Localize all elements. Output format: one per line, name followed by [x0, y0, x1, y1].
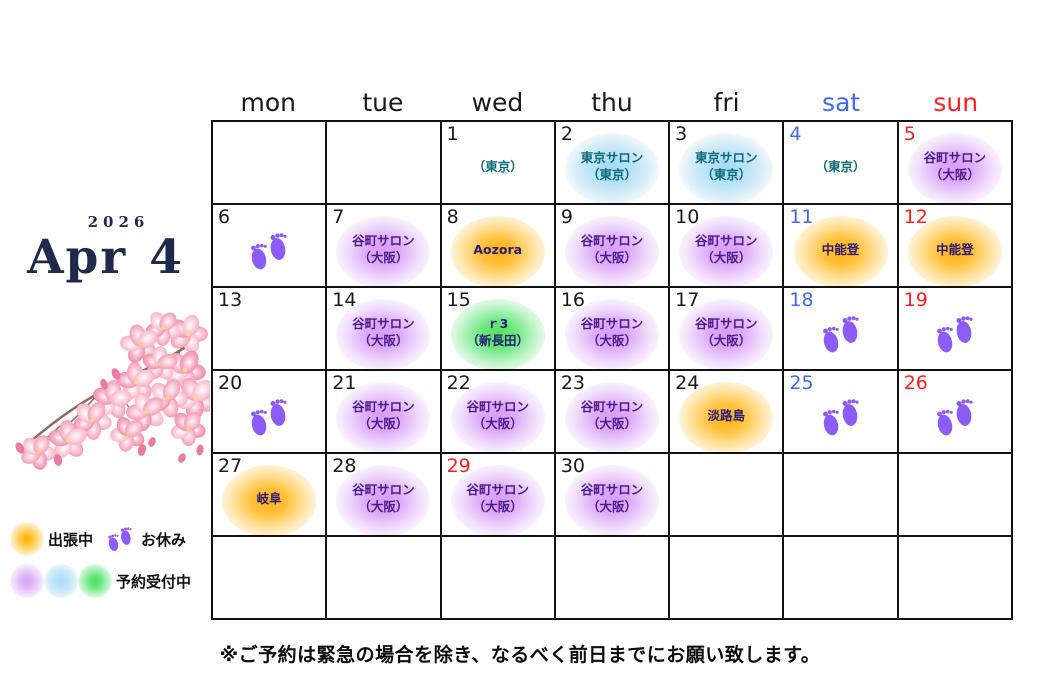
event-line-2: （大阪）	[670, 332, 782, 349]
event-line-1: 淡路島	[708, 408, 746, 423]
calendar-grid: 1（東京）2東京サロン（東京）3東京サロン（東京）4（東京）5谷町サロン（大阪）…	[211, 120, 1013, 620]
day-cell-empty[interactable]	[327, 122, 441, 205]
day-number: 28	[332, 455, 356, 477]
event-label: 谷町サロン（大阪）	[556, 481, 668, 515]
legend-label-accepting: 予約受付中	[116, 571, 191, 592]
day-cell-6[interactable]: 6	[213, 205, 327, 288]
weekday-header-tue: tue	[326, 88, 441, 120]
event-line-2: （大阪）	[670, 249, 782, 266]
event-line-2: （大阪）	[556, 249, 668, 266]
weekday-header-sat: sat	[784, 88, 899, 120]
event-line-2: （大阪）	[556, 498, 668, 515]
event-label: Aozora	[442, 241, 554, 258]
cherry-blossom-icon	[0, 300, 210, 480]
day-cell-empty[interactable]	[327, 537, 441, 620]
footprints-icon	[243, 225, 295, 277]
day-number: 12	[904, 206, 928, 228]
green-dot-icon	[78, 564, 112, 598]
event-label: 淡路島	[670, 407, 782, 424]
event-line-1: 谷町サロン	[466, 482, 529, 497]
event-line-2: （東京）	[556, 166, 668, 183]
event-label: 谷町サロン（大阪）	[670, 315, 782, 349]
calendar-table: montuewedthufrisatsun 1（東京）2東京サロン（東京）3東京…	[211, 88, 1013, 620]
event-line-1: 谷町サロン	[581, 233, 644, 248]
event-line-1: 谷町サロン	[352, 482, 415, 497]
event-label: 岐阜	[213, 490, 325, 507]
day-number: 1	[447, 123, 459, 145]
blue-dot-icon	[44, 564, 78, 598]
day-cell-empty[interactable]	[899, 454, 1013, 537]
day-number: 7	[332, 206, 344, 228]
day-cell-empty[interactable]	[213, 122, 327, 205]
day-cell-13[interactable]: 13	[213, 288, 327, 371]
day-number: 10	[675, 206, 699, 228]
calendar-title: 2026 Apr4	[8, 215, 203, 284]
event-label: 谷町サロン（大阪）	[556, 398, 668, 432]
day-cell-29[interactable]: 29谷町サロン（大阪）	[442, 454, 556, 537]
calendar-page: 2026 Apr4	[0, 0, 1040, 700]
footprints-icon	[103, 522, 137, 556]
event-label: 谷町サロン（大阪）	[899, 149, 1011, 183]
day-number: 6	[218, 206, 230, 228]
event-line-1: 谷町サロン	[581, 482, 644, 497]
day-cell-27[interactable]: 27岐阜	[213, 454, 327, 537]
event-line-1: （東京）	[816, 159, 866, 174]
event-line-2: （大阪）	[327, 249, 439, 266]
day-cell-empty[interactable]	[784, 537, 898, 620]
event-line-2: （大阪）	[442, 415, 554, 432]
weekday-header-row: montuewedthufrisatsun	[211, 88, 1013, 120]
event-line-2: （大阪）	[327, 332, 439, 349]
day-cell-empty[interactable]	[556, 537, 670, 620]
day-number: 14	[332, 289, 356, 311]
event-line-1: 岐阜	[257, 491, 282, 506]
day-cell-28[interactable]: 28谷町サロン（大阪）	[327, 454, 441, 537]
day-number: 29	[447, 455, 471, 477]
day-cell-19[interactable]: 19	[899, 288, 1013, 371]
day-number: 15	[447, 289, 471, 311]
day-cell-16[interactable]: 16谷町サロン（大阪）	[556, 288, 670, 371]
day-number: 23	[561, 372, 585, 394]
day-number: 3	[675, 123, 687, 145]
footprints-icon	[243, 391, 295, 443]
event-label: 谷町サロン（大阪）	[442, 398, 554, 432]
event-label: ｒ3（新長田）	[442, 315, 554, 349]
event-line-1: 谷町サロン	[581, 316, 644, 331]
event-label: 谷町サロン（大阪）	[556, 232, 668, 266]
day-number: 4	[789, 123, 801, 145]
event-label: 谷町サロン（大阪）	[556, 315, 668, 349]
day-number: 27	[218, 455, 242, 477]
day-cell-11[interactable]: 11中能登	[784, 205, 898, 288]
event-line-1: 谷町サロン	[695, 233, 758, 248]
event-label: 谷町サロン（大阪）	[327, 315, 439, 349]
event-line-1: ｒ3	[487, 316, 508, 331]
event-line-1: （東京）	[473, 159, 523, 174]
day-cell-26[interactable]: 26	[899, 371, 1013, 454]
event-line-1: 谷町サロン	[352, 233, 415, 248]
weekday-header-wed: wed	[440, 88, 555, 120]
event-label: 東京サロン（東京）	[556, 149, 668, 183]
legend-label-day-off: お休み	[141, 529, 186, 550]
day-cell-4[interactable]: 4（東京）	[784, 122, 898, 205]
day-number: 8	[447, 206, 459, 228]
footer-note: ※ご予約は緊急の場合を除き、なるべく前日までにお願い致します。	[0, 640, 1040, 667]
day-number: 17	[675, 289, 699, 311]
weekday-header-thu: thu	[555, 88, 670, 120]
day-number: 9	[561, 206, 573, 228]
footprints-icon	[815, 391, 867, 443]
purple-dot-icon	[10, 564, 44, 598]
event-line-2: （大阪）	[556, 415, 668, 432]
day-cell-14[interactable]: 14谷町サロン（大阪）	[327, 288, 441, 371]
day-cell-15[interactable]: 15ｒ3（新長田）	[442, 288, 556, 371]
event-line-2: （新長田）	[442, 332, 554, 349]
day-cell-empty[interactable]	[784, 454, 898, 537]
event-label: 谷町サロン（大阪）	[327, 398, 439, 432]
event-label: 谷町サロン（大阪）	[442, 481, 554, 515]
legend: 出張中	[10, 518, 205, 602]
footprints-icon	[929, 308, 981, 360]
day-number: 26	[904, 372, 928, 394]
event-line-2: （大阪）	[327, 415, 439, 432]
event-label: 中能登	[784, 241, 896, 258]
day-cell-21[interactable]: 21谷町サロン（大阪）	[327, 371, 441, 454]
event-line-1: 中能登	[936, 242, 974, 257]
event-line-2: （大阪）	[899, 166, 1011, 183]
event-label: 谷町サロン（大阪）	[327, 232, 439, 266]
event-line-1: 谷町サロン	[695, 316, 758, 331]
day-cell-18[interactable]: 18	[784, 288, 898, 371]
event-line-1: 東京サロン	[695, 150, 758, 165]
orange-dot-icon	[10, 522, 44, 556]
day-cell-22[interactable]: 22谷町サロン（大阪）	[442, 371, 556, 454]
event-line-2: （東京）	[670, 166, 782, 183]
footprints-icon	[929, 391, 981, 443]
event-line-2: （大阪）	[442, 498, 554, 515]
event-line-2: （大阪）	[327, 498, 439, 515]
weekday-header-fri: fri	[669, 88, 784, 120]
event-label: 中能登	[899, 241, 1011, 258]
day-cell-24[interactable]: 24淡路島	[670, 371, 784, 454]
footprints-icon	[815, 308, 867, 360]
day-cell-20[interactable]: 20	[213, 371, 327, 454]
day-number: 5	[904, 123, 916, 145]
legend-label-business-trip: 出張中	[48, 529, 93, 550]
event-label: （東京）	[442, 158, 554, 175]
day-cell-12[interactable]: 12中能登	[899, 205, 1013, 288]
legend-row-accepting: 予約受付中	[10, 560, 205, 602]
legend-row-business-trip: 出張中	[10, 518, 205, 560]
day-cell-9[interactable]: 9谷町サロン（大阪）	[556, 205, 670, 288]
event-label: 谷町サロン（大阪）	[670, 232, 782, 266]
left-panel: 2026 Apr4	[0, 0, 211, 700]
day-number: 13	[218, 289, 242, 311]
day-number: 25	[789, 372, 813, 394]
day-cell-5[interactable]: 5谷町サロン（大阪）	[899, 122, 1013, 205]
event-line-1: 中能登	[822, 242, 860, 257]
title-year: 2026	[34, 215, 203, 230]
event-label: 谷町サロン（大阪）	[327, 481, 439, 515]
title-month-abbr: Apr	[27, 230, 127, 285]
event-line-1: 谷町サロン	[352, 399, 415, 414]
event-line-1: Aozora	[473, 242, 522, 257]
event-line-1: 谷町サロン	[924, 150, 987, 165]
day-cell-empty[interactable]	[899, 537, 1013, 620]
title-month: Apr4	[8, 232, 203, 284]
event-line-1: 谷町サロン	[352, 316, 415, 331]
day-cell-2[interactable]: 2東京サロン（東京）	[556, 122, 670, 205]
day-cell-empty[interactable]	[670, 454, 784, 537]
day-number: 11	[789, 206, 813, 228]
event-line-1: 谷町サロン	[581, 399, 644, 414]
day-number: 19	[904, 289, 928, 311]
day-number: 30	[561, 455, 585, 477]
day-cell-1[interactable]: 1（東京）	[442, 122, 556, 205]
day-cell-25[interactable]: 25	[784, 371, 898, 454]
weekday-header-mon: mon	[211, 88, 326, 120]
weekday-header-sun: sun	[898, 88, 1013, 120]
day-number: 20	[218, 372, 242, 394]
day-cell-23[interactable]: 23谷町サロン（大阪）	[556, 371, 670, 454]
day-number: 2	[561, 123, 573, 145]
day-cell-10[interactable]: 10谷町サロン（大阪）	[670, 205, 784, 288]
day-number: 16	[561, 289, 585, 311]
day-cell-7[interactable]: 7谷町サロン（大阪）	[327, 205, 441, 288]
event-label: 東京サロン（東京）	[670, 149, 782, 183]
event-line-2: （大阪）	[556, 332, 668, 349]
day-number: 24	[675, 372, 699, 394]
event-line-1: 谷町サロン	[466, 399, 529, 414]
day-number: 21	[332, 372, 356, 394]
day-cell-empty[interactable]	[213, 537, 327, 620]
event-label: （東京）	[784, 158, 896, 175]
title-month-number: 4	[149, 230, 184, 285]
day-cell-empty[interactable]	[670, 537, 784, 620]
day-number: 18	[789, 289, 813, 311]
event-line-1: 東京サロン	[581, 150, 644, 165]
day-cell-17[interactable]: 17谷町サロン（大阪）	[670, 288, 784, 371]
day-cell-empty[interactable]	[442, 537, 556, 620]
day-cell-8[interactable]: 8Aozora	[442, 205, 556, 288]
day-number: 22	[447, 372, 471, 394]
day-cell-30[interactable]: 30谷町サロン（大阪）	[556, 454, 670, 537]
day-cell-3[interactable]: 3東京サロン（東京）	[670, 122, 784, 205]
